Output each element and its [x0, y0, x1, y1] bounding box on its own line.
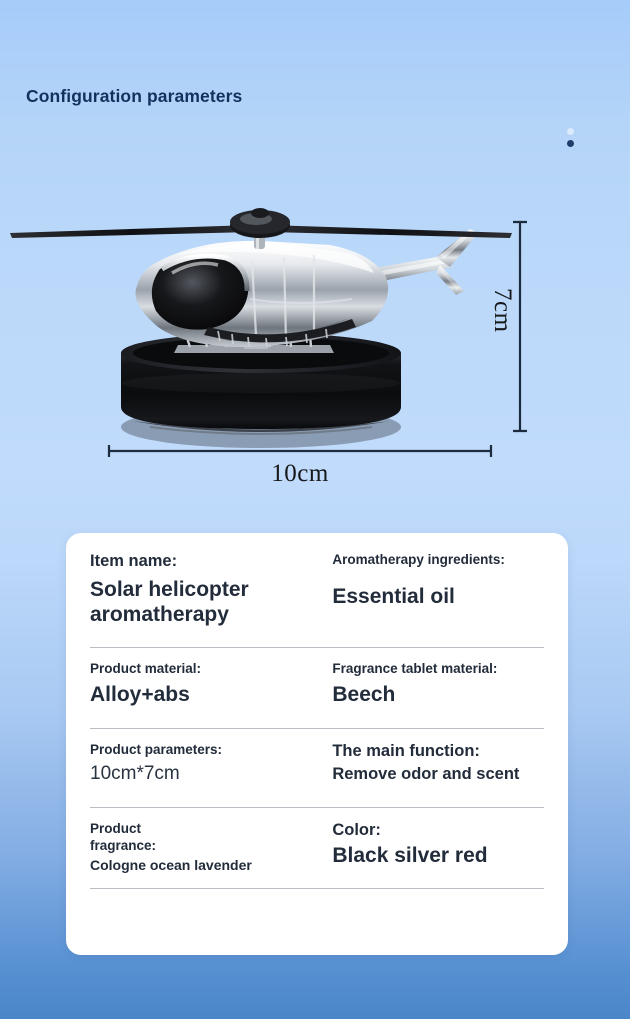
carousel-dots[interactable] — [567, 128, 574, 147]
spec-cell-tablet-material: Fragrance tablet material: Beech — [332, 660, 544, 707]
spec-cell-main-function: The main function: Remove odor and scent — [332, 741, 544, 786]
spec-label-color: Color: — [332, 820, 544, 841]
spec-value-main-function: Remove odor and scent — [332, 765, 544, 785]
spec-value-color: Black silver red — [332, 843, 544, 868]
carousel-dot-1[interactable] — [567, 128, 574, 135]
helicopter-fuselage — [135, 241, 388, 347]
specification-card: Item name: Solar helicopter aromatherapy… — [66, 533, 568, 955]
spec-cell-ingredients: Aromatherapy ingredients: Essential oil — [332, 551, 544, 627]
spec-value-product-fragrance: Cologne ocean lavender — [90, 857, 326, 874]
width-dimension-label: 10cm — [0, 460, 600, 488]
spec-cell-product-material: Product material: Alloy+abs — [90, 660, 332, 707]
spec-label-product-fragrance: Product fragrance: — [90, 820, 176, 855]
spec-value-product-material: Alloy+abs — [90, 682, 326, 707]
spec-cell-color: Color: Black silver red — [332, 820, 544, 873]
spec-row-product-parameters: Product parameters: 10cm*7cm The main fu… — [90, 729, 544, 807]
spec-label-ingredients: Aromatherapy ingredients: — [332, 551, 544, 568]
spec-label-main-function: The main function: — [332, 741, 544, 762]
carousel-dot-2[interactable] — [567, 140, 574, 147]
spec-value-ingredients: Essential oil — [332, 584, 544, 609]
page-title: Configuration parameters — [26, 86, 242, 107]
spec-label-product-parameters: Product parameters: — [90, 741, 326, 758]
spec-value-tablet-material: Beech — [332, 682, 544, 707]
spec-row-item-name: Item name: Solar helicopter aromatherapy… — [90, 551, 544, 647]
helicopter-rotor — [10, 208, 512, 249]
spec-label-tablet-material: Fragrance tablet material: — [332, 660, 544, 677]
spec-row-product-fragrance: Product fragrance: Cologne ocean lavende… — [90, 808, 544, 888]
height-dimension-label: 7cm — [488, 288, 516, 333]
spec-cell-product-parameters: Product parameters: 10cm*7cm — [90, 741, 332, 786]
spec-cell-product-fragrance: Product fragrance: Cologne ocean lavende… — [90, 820, 332, 873]
spec-row-product-material: Product material: Alloy+abs Fragrance ta… — [90, 648, 544, 728]
spec-divider-4 — [90, 888, 544, 889]
product-image — [0, 195, 630, 505]
spec-label-product-material: Product material: — [90, 660, 326, 677]
spec-label-item-name: Item name: — [90, 551, 326, 572]
spec-value-item-name: Solar helicopter aromatherapy — [90, 577, 326, 627]
spec-value-product-parameters: 10cm*7cm — [90, 763, 326, 786]
helicopter-diffuser-illustration — [0, 195, 630, 505]
spec-cell-item-name: Item name: Solar helicopter aromatherapy — [90, 551, 332, 627]
